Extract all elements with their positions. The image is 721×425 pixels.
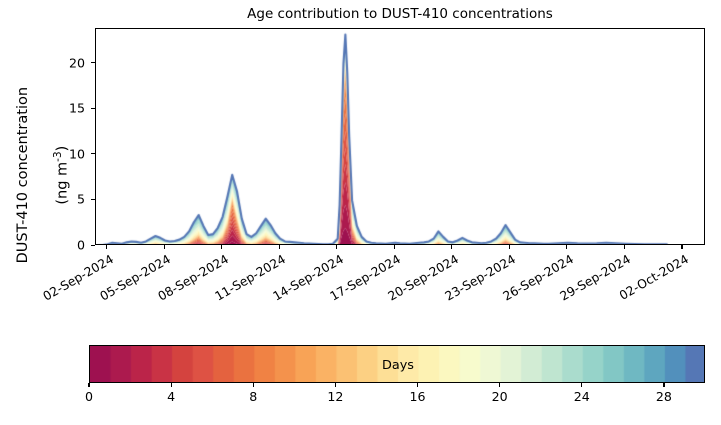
y-axis-label: DUST-410 concentration (ng m-3) bbox=[0, 45, 73, 305]
x-tick-mark bbox=[451, 245, 452, 249]
colorbar-tick-mark bbox=[581, 383, 582, 387]
colorbar-tick-label: 24 bbox=[574, 389, 590, 404]
x-tick-mark bbox=[336, 245, 337, 249]
colorbar-tick-mark bbox=[335, 383, 336, 387]
figure-canvas: Age contribution to DUST-410 concentrati… bbox=[0, 0, 721, 425]
colorbar-tick-mark bbox=[417, 383, 418, 387]
colorbar-tick-label: 8 bbox=[249, 389, 257, 404]
y-tick-label: 10 bbox=[51, 146, 85, 161]
x-tick-mark bbox=[509, 245, 510, 249]
colorbar-tick-mark bbox=[499, 383, 500, 387]
y-tick-label: 5 bbox=[51, 192, 85, 207]
x-tick-mark bbox=[221, 245, 222, 249]
colorbar-tick-label: 20 bbox=[492, 389, 508, 404]
colorbar-tick-label: 16 bbox=[410, 389, 426, 404]
x-tick-mark bbox=[394, 245, 395, 249]
colorbar-tick-label: 0 bbox=[85, 389, 93, 404]
colorbar-tick-mark bbox=[88, 383, 89, 387]
colorbar-tick-mark bbox=[171, 383, 172, 387]
y-tick-label: 15 bbox=[51, 101, 85, 116]
x-tick-mark bbox=[164, 245, 165, 249]
colorbar-tick-mark bbox=[663, 383, 664, 387]
colorbar-tick-label: 28 bbox=[656, 389, 672, 404]
stacked-area-series bbox=[96, 29, 705, 245]
x-tick-mark bbox=[106, 245, 107, 249]
x-tick-mark bbox=[624, 245, 625, 249]
colorbar: Days bbox=[89, 345, 705, 383]
x-tick-mark bbox=[279, 245, 280, 249]
y-tick-label: 0 bbox=[51, 238, 85, 253]
chart-title: Age contribution to DUST-410 concentrati… bbox=[95, 6, 705, 22]
colorbar-tick-label: 12 bbox=[327, 389, 343, 404]
x-tick-mark bbox=[566, 245, 567, 249]
x-tick-mark bbox=[681, 245, 682, 249]
colorbar-tick-mark bbox=[253, 383, 254, 387]
colorbar-gradient bbox=[90, 346, 705, 383]
y-axis-label-line1: DUST-410 concentration bbox=[15, 87, 31, 263]
colorbar-tick-label: 4 bbox=[167, 389, 175, 404]
y-tick-label: 20 bbox=[51, 55, 85, 70]
plot-area bbox=[95, 28, 705, 245]
